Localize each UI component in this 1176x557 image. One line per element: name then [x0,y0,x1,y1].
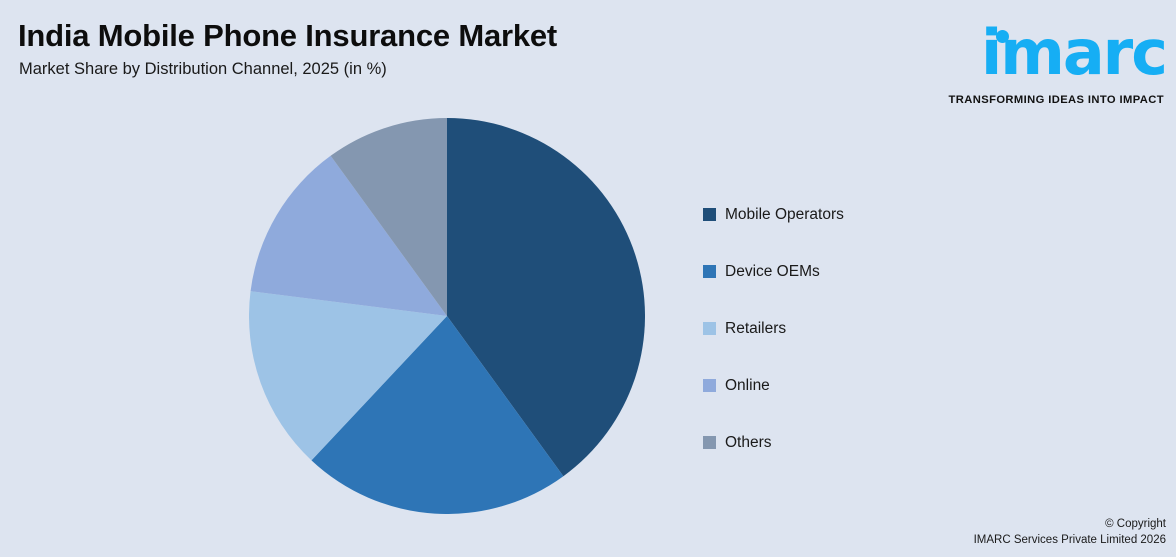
copyright-notice: © Copyright IMARC Services Private Limit… [974,516,1166,549]
legend-swatch-icon [703,379,716,392]
copyright-line-2: IMARC Services Private Limited 2026 [974,532,1166,549]
legend-item[interactable]: Retailers [703,300,844,357]
chart-legend: Mobile OperatorsDevice OEMsRetailersOnli… [703,186,844,471]
copyright-line-1: © Copyright [974,516,1166,533]
legend-item[interactable]: Device OEMs [703,243,844,300]
legend-item-label: Mobile Operators [725,206,844,224]
page-title: India Mobile Phone Insurance Market [18,18,557,54]
imarc-logo: imarc TRANSFORMING IDEAS INTO IMPACT [928,10,1168,110]
logo-dot-icon [996,30,1009,43]
chart-subtitle: Market Share by Distribution Channel, 20… [19,60,387,79]
legend-item-label: Others [725,434,772,452]
legend-item[interactable]: Mobile Operators [703,186,844,243]
legend-swatch-icon [703,208,716,221]
legend-swatch-icon [703,436,716,449]
logo-wordmark: imarc [981,22,1166,84]
legend-item-label: Retailers [725,320,786,338]
legend-item-label: Device OEMs [725,263,820,281]
legend-item-label: Online [725,377,770,395]
legend-swatch-icon [703,265,716,278]
pie-slice-group [249,118,645,514]
logo-tagline: TRANSFORMING IDEAS INTO IMPACT [949,94,1164,106]
legend-item[interactable]: Others [703,414,844,471]
legend-item[interactable]: Online [703,357,844,414]
pie-chart [249,118,645,514]
legend-swatch-icon [703,322,716,335]
